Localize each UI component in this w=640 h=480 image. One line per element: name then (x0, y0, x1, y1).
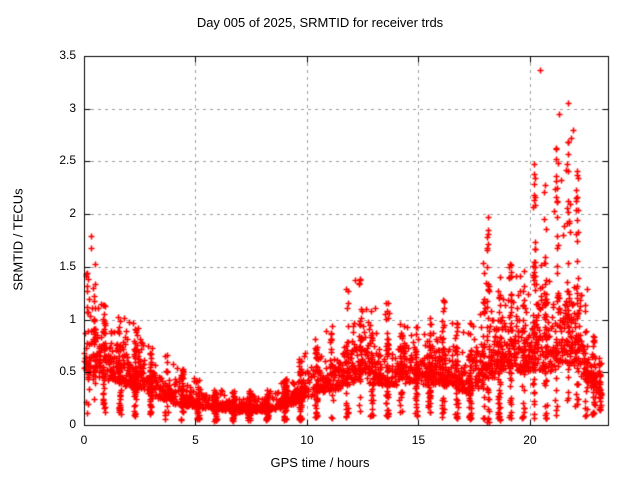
y-tick-label: 2.5 (36, 153, 76, 167)
y-tick-label: 3 (36, 101, 76, 115)
y-tick-label: 1 (36, 312, 76, 326)
y-tick-label: 1.5 (36, 259, 76, 273)
x-tick-label: 10 (287, 433, 327, 447)
x-tick-label: 5 (175, 433, 215, 447)
y-axis-label: SRMTID / TECUs (11, 160, 26, 320)
x-axis-label: GPS time / hours (0, 455, 640, 470)
plot-canvas (0, 0, 640, 480)
x-tick-label: 15 (398, 433, 438, 447)
y-tick-label: 0 (36, 417, 76, 431)
scatter-plot-figure: Day 005 of 2025, SRMTID for receiver trd… (0, 0, 640, 480)
y-tick-label: 0.5 (36, 364, 76, 378)
y-tick-label: 2 (36, 206, 76, 220)
x-tick-label: 0 (64, 433, 104, 447)
x-tick-label: 20 (510, 433, 550, 447)
chart-title: Day 005 of 2025, SRMTID for receiver trd… (0, 15, 640, 30)
y-tick-label: 3.5 (36, 48, 76, 62)
